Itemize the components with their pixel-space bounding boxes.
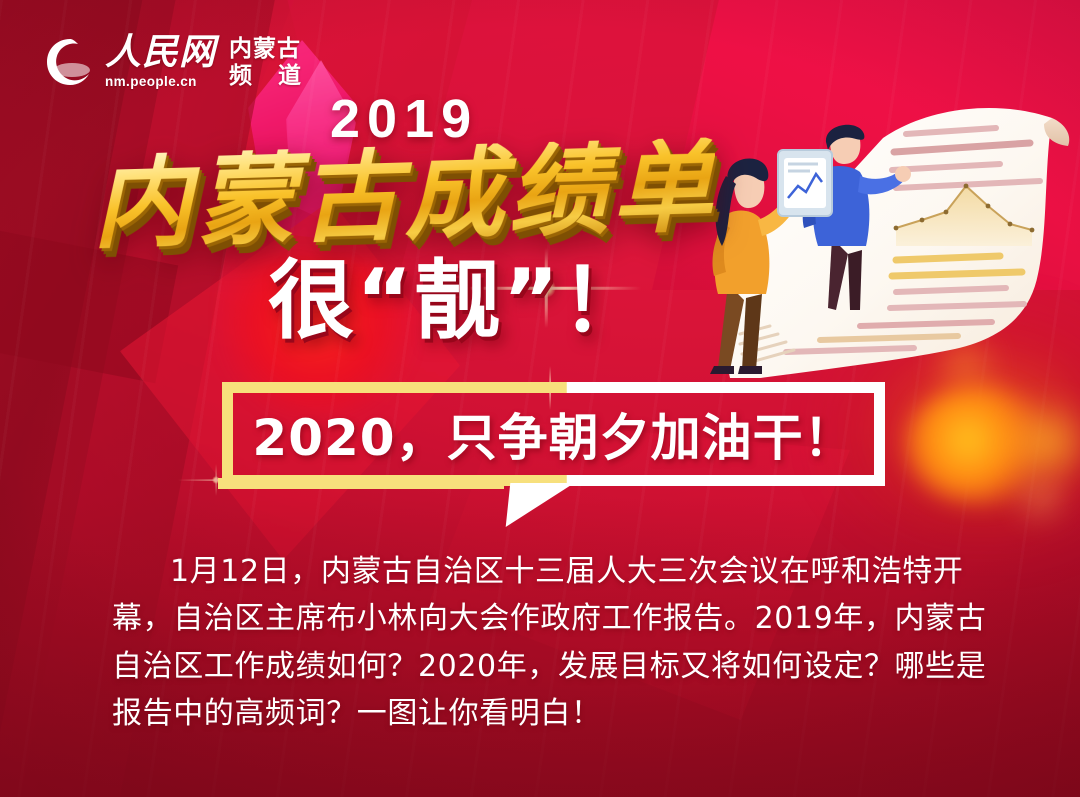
body-paragraph: 1月12日，内蒙古自治区十三届人大三次会议在呼和浩特开幕，自治区主席布小林向大会… bbox=[112, 548, 992, 738]
tablet-device bbox=[778, 150, 832, 216]
logo-channel-line1: 内蒙古 bbox=[229, 36, 310, 62]
logo-channel-line2: 频 道 bbox=[229, 63, 310, 89]
logo-brand-cn: 人民网 bbox=[105, 34, 216, 70]
logo-brand-url: nm.people.cn bbox=[105, 74, 197, 89]
poster-canvas: 人民网 nm.people.cn 内蒙古 频 道 2019 内蒙古成绩单 很“靓… bbox=[0, 0, 1080, 797]
headline-gold: 内蒙古成绩单 bbox=[91, 137, 718, 254]
people-daily-globe-icon bbox=[44, 36, 96, 88]
headline-white: 很“靓”！ bbox=[268, 258, 649, 344]
logo-channel-name: 内蒙古 频 道 bbox=[229, 34, 310, 90]
speech-bubble: 2020，只争朝夕加油干！ bbox=[222, 382, 885, 486]
speech-bubble-tail bbox=[506, 483, 575, 527]
logo-wordmark: 人民网 nm.people.cn bbox=[105, 34, 216, 89]
site-logo[interactable]: 人民网 nm.people.cn 内蒙古 频 道 bbox=[44, 34, 310, 90]
illustration-two-people-with-report bbox=[700, 78, 1080, 418]
speech-bubble-text: 2020，只争朝夕加油干！ bbox=[222, 382, 885, 486]
